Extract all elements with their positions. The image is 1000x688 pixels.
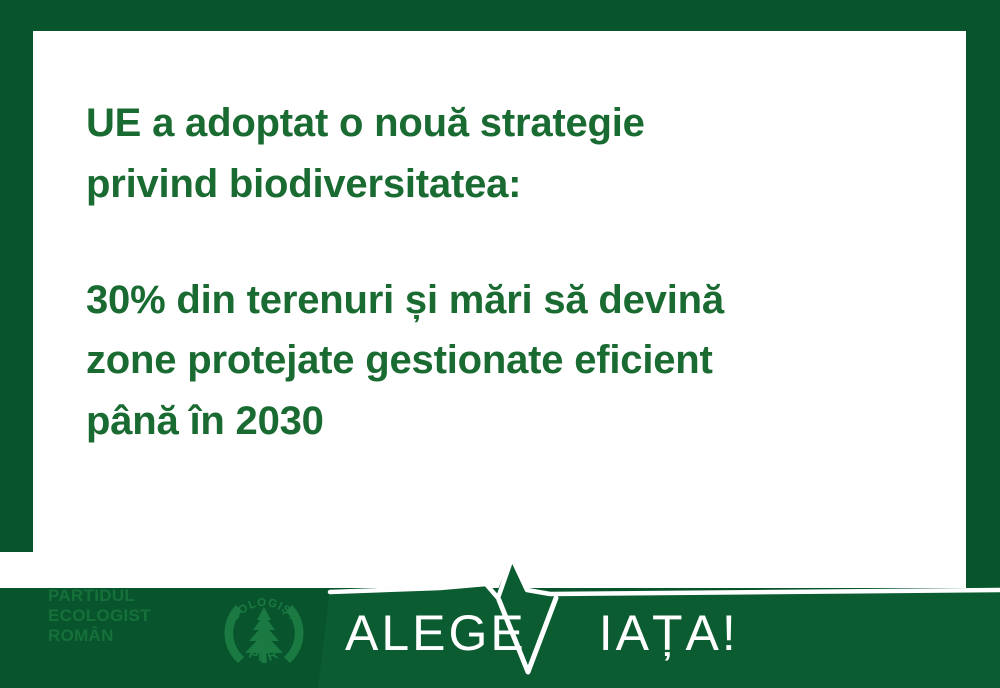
- headline-paragraph-2-line-1: 30% din terenuri și mări să devină: [86, 270, 946, 331]
- frame-left-border: [0, 0, 33, 552]
- party-name-label: PARTIDUL ECOLOGIST ROMÂN: [48, 586, 151, 646]
- per-logo: ECOLOGIȘTII PER: [218, 587, 310, 679]
- slogan-banner: ALEGEIAȚA!: [300, 552, 1000, 688]
- frame-top-border: [0, 0, 1000, 31]
- paragraph-spacer: [86, 215, 946, 270]
- headline-paragraph-2-line-2: zone protejate gestionate eficient: [86, 330, 946, 391]
- content-card: UE a adoptat o nouă strategie privind bi…: [33, 31, 966, 588]
- poster: UE a adoptat o nouă strategie privind bi…: [0, 0, 1000, 688]
- headline-paragraph-2-line-3: până în 2030: [86, 391, 946, 452]
- footer: PARTIDUL ECOLOGIST ROMÂN: [0, 552, 1000, 688]
- headline-paragraph-1-line-1: UE a adoptat o nouă strategie: [86, 93, 946, 154]
- frame-right-border: [966, 0, 1000, 588]
- slogan-word-viata: IAȚA!: [599, 605, 739, 661]
- slogan-word-alege: ALEGE: [345, 605, 527, 661]
- headline-paragraph-1-line-2: privind biodiversitatea:: [86, 154, 946, 215]
- headline-block: UE a adoptat o nouă strategie privind bi…: [86, 93, 946, 452]
- slogan-text: ALEGEIAȚA!: [345, 604, 739, 662]
